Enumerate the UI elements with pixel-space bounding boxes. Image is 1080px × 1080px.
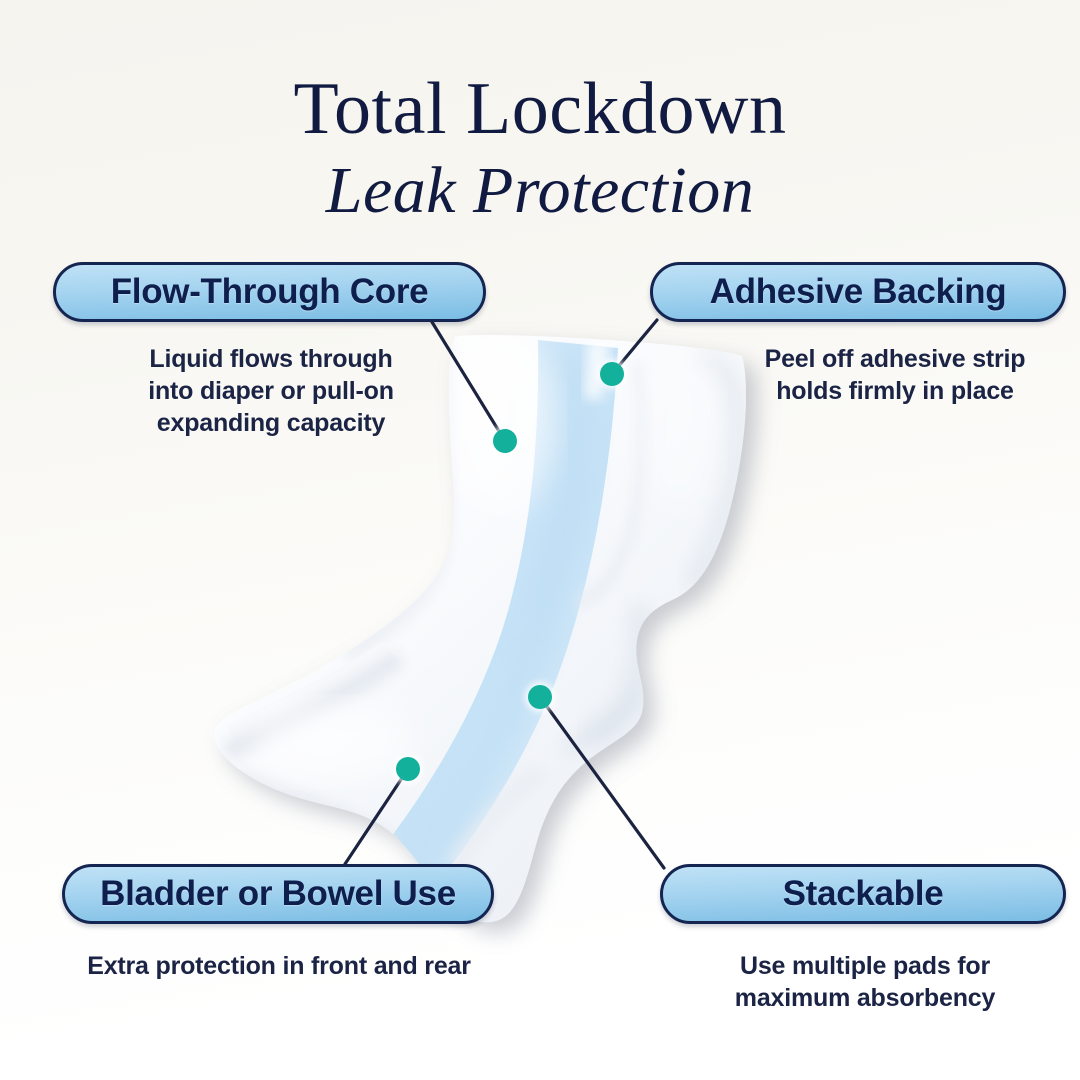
callout-pill-bladder-or-bowel-use[interactable]: Bladder or Bowel Use <box>62 864 494 924</box>
callout-label-adhesive-backing: Adhesive Backing <box>710 272 1007 312</box>
callout-description-adhesive-backing: Peel off adhesive strip holds firmly in … <box>742 343 1048 407</box>
callout-dot-stackable[interactable] <box>528 685 552 709</box>
callout-description-stackable: Use multiple pads for maximum absorbency <box>690 950 1040 1014</box>
callout-description-flow-through-core: Liquid flows through into diaper or pull… <box>118 343 424 439</box>
callout-label-bladder-or-bowel-use: Bladder or Bowel Use <box>100 874 456 914</box>
callout-label-flow-through-core: Flow-Through Core <box>111 272 429 312</box>
page-title: Total Lockdown Leak Protection <box>0 72 1080 230</box>
callout-label-stackable: Stackable <box>783 874 944 914</box>
callout-pill-flow-through-core[interactable]: Flow-Through Core <box>53 262 486 322</box>
title-line-1: Total Lockdown <box>0 72 1080 146</box>
callout-pill-adhesive-backing[interactable]: Adhesive Backing <box>650 262 1066 322</box>
title-line-2: Leak Protection <box>0 152 1080 230</box>
callout-dot-adhesive[interactable] <box>600 362 624 386</box>
callout-dot-bladder[interactable] <box>396 757 420 781</box>
callout-pill-stackable[interactable]: Stackable <box>660 864 1066 924</box>
callout-description-bladder-or-bowel-use: Extra protection in front and rear <box>53 950 505 982</box>
infographic-canvas: Total Lockdown Leak Protection Flow-Thro… <box>0 0 1080 1080</box>
callout-dot-flow[interactable] <box>493 429 517 453</box>
